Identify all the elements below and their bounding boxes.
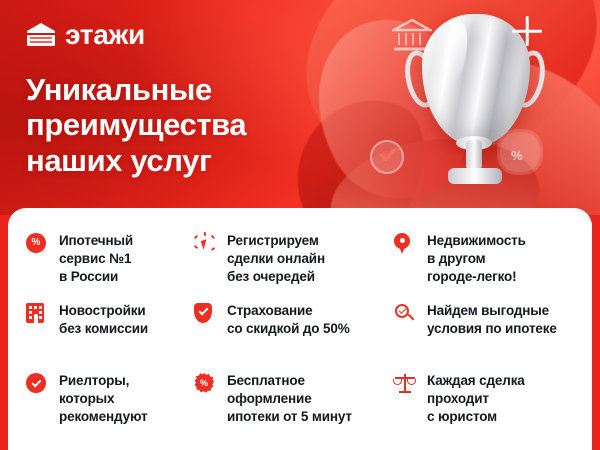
location-pin-icon	[394, 233, 416, 255]
features-grid: % Ипотечный сервис №1 в России Регистрир…	[26, 232, 574, 432]
feature-item[interactable]: Недвижимость в другом городе-легко!	[394, 232, 574, 292]
feature-label: Недвижимость в другом городе-легко!	[427, 232, 526, 285]
feature-item[interactable]: % Ипотечный сервис №1 в России	[26, 232, 194, 292]
building-icon	[26, 303, 48, 325]
feature-item[interactable]: Каждая сделка проходит с юристом	[394, 372, 574, 432]
sparkle-icon	[512, 16, 542, 46]
brand-name: этажи	[65, 21, 145, 49]
percent-badge-icon: %	[500, 132, 540, 172]
headline-line-1: Уникальные	[26, 72, 246, 107]
feature-item[interactable]: Регистрируем сделки онлайн без очередей	[194, 232, 394, 292]
percent-symbol: %	[511, 148, 523, 163]
hero-banner: % этажи Уникальные преимущества наших ус…	[0, 0, 600, 215]
headline-line-2: преимущества	[26, 107, 246, 142]
shield-check-icon	[194, 303, 216, 325]
cursor-click-icon	[194, 233, 216, 255]
check-circle-icon	[370, 140, 404, 174]
features-card: % Ипотечный сервис №1 в России Регистрир…	[8, 208, 592, 450]
percent-circle-icon: %	[26, 233, 48, 255]
building-logo-icon	[26, 22, 56, 48]
feature-label: Регистрируем сделки онлайн без очередей	[227, 232, 325, 285]
feature-label: Ипотечный сервис №1 в России	[59, 232, 133, 285]
scales-justice-icon	[394, 373, 416, 395]
feature-label: Каждая сделка проходит с юристом	[427, 372, 525, 425]
feature-label: Найдем выгодные условия по ипотеке	[427, 302, 557, 338]
feature-item[interactable]: Новостройки без комиссии	[26, 302, 194, 362]
percent-badge-icon: %	[194, 373, 216, 395]
feature-item[interactable]: Риелторы, которых рекомендуют	[26, 372, 194, 432]
feature-label: Бесплатное оформление ипотеки от 5 минут	[227, 372, 352, 425]
feature-label: Страхование со скидкой до 50%	[227, 302, 350, 338]
headline-line-3: наших услуг	[26, 143, 246, 178]
brand-logo[interactable]: этажи	[26, 21, 145, 49]
trophy-stem	[466, 140, 482, 170]
feature-label: Новостройки без комиссии	[59, 302, 148, 338]
feature-item[interactable]: Страхование со скидкой до 50%	[194, 302, 394, 362]
feature-label: Риелторы, которых рекомендуют	[59, 372, 147, 425]
search-check-icon	[394, 303, 416, 325]
feature-item[interactable]: Найдем выгодные условия по ипотеке	[394, 302, 574, 362]
feature-item[interactable]: % Бесплатное оформление ипотеки от 5 мин…	[194, 372, 394, 432]
bank-icon	[392, 18, 432, 52]
check-circle-icon	[26, 373, 48, 395]
page-title: Уникальные преимущества наших услуг	[26, 72, 246, 178]
trophy-base	[448, 168, 502, 184]
